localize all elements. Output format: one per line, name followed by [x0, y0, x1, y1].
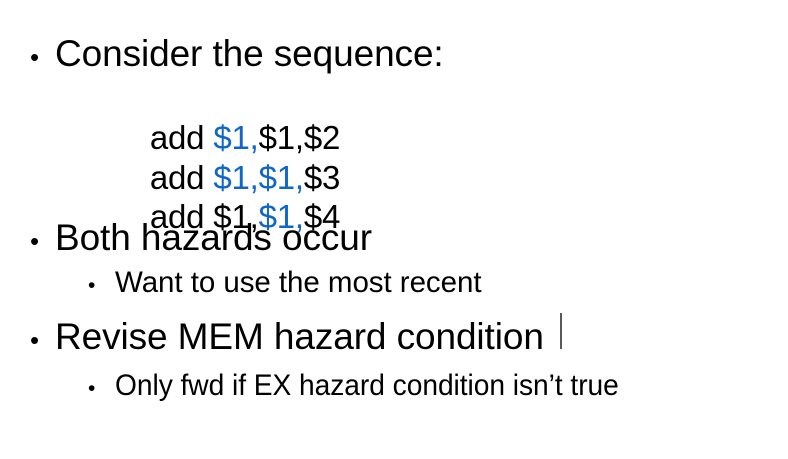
bullet-text: Consider the sequence: — [55, 35, 444, 72]
bullet-dot-icon: • — [88, 275, 115, 296]
bullet-item-consider-the-sequence[interactable]: • Consider the sequence: — [30, 35, 444, 72]
bullet-text: Revise MEM hazard condition — [55, 318, 544, 355]
bullet-text: Both hazards occur — [55, 219, 372, 256]
bullet-item-revise-mem-hazard-condition[interactable]: • Revise MEM hazard condition — [30, 318, 544, 355]
bullet-item-want-to-use-the-most-recent[interactable]: • Want to use the most recent — [88, 268, 481, 298]
bullet-item-only-fwd-if-ex-hazard-condition-isnt-true[interactable]: • Only fwd if EX hazard condition isn’t … — [88, 371, 643, 401]
bullet-item-both-hazards-occur[interactable]: • Both hazards occur — [30, 219, 372, 256]
bullet-dot-icon: • — [30, 44, 55, 70]
bullet-text: Only fwd if EX hazard condition isn’t tr… — [115, 371, 619, 401]
bullet-dot-icon: • — [88, 378, 115, 399]
bullet-dot-icon: • — [30, 327, 55, 353]
bullet-dot-icon: • — [30, 228, 55, 254]
text-insertion-caret — [560, 313, 562, 349]
bullet-text: Want to use the most recent — [115, 268, 481, 298]
slide-canvas: • Consider the sequence: add $1,$1,$2 ad… — [0, 0, 788, 459]
